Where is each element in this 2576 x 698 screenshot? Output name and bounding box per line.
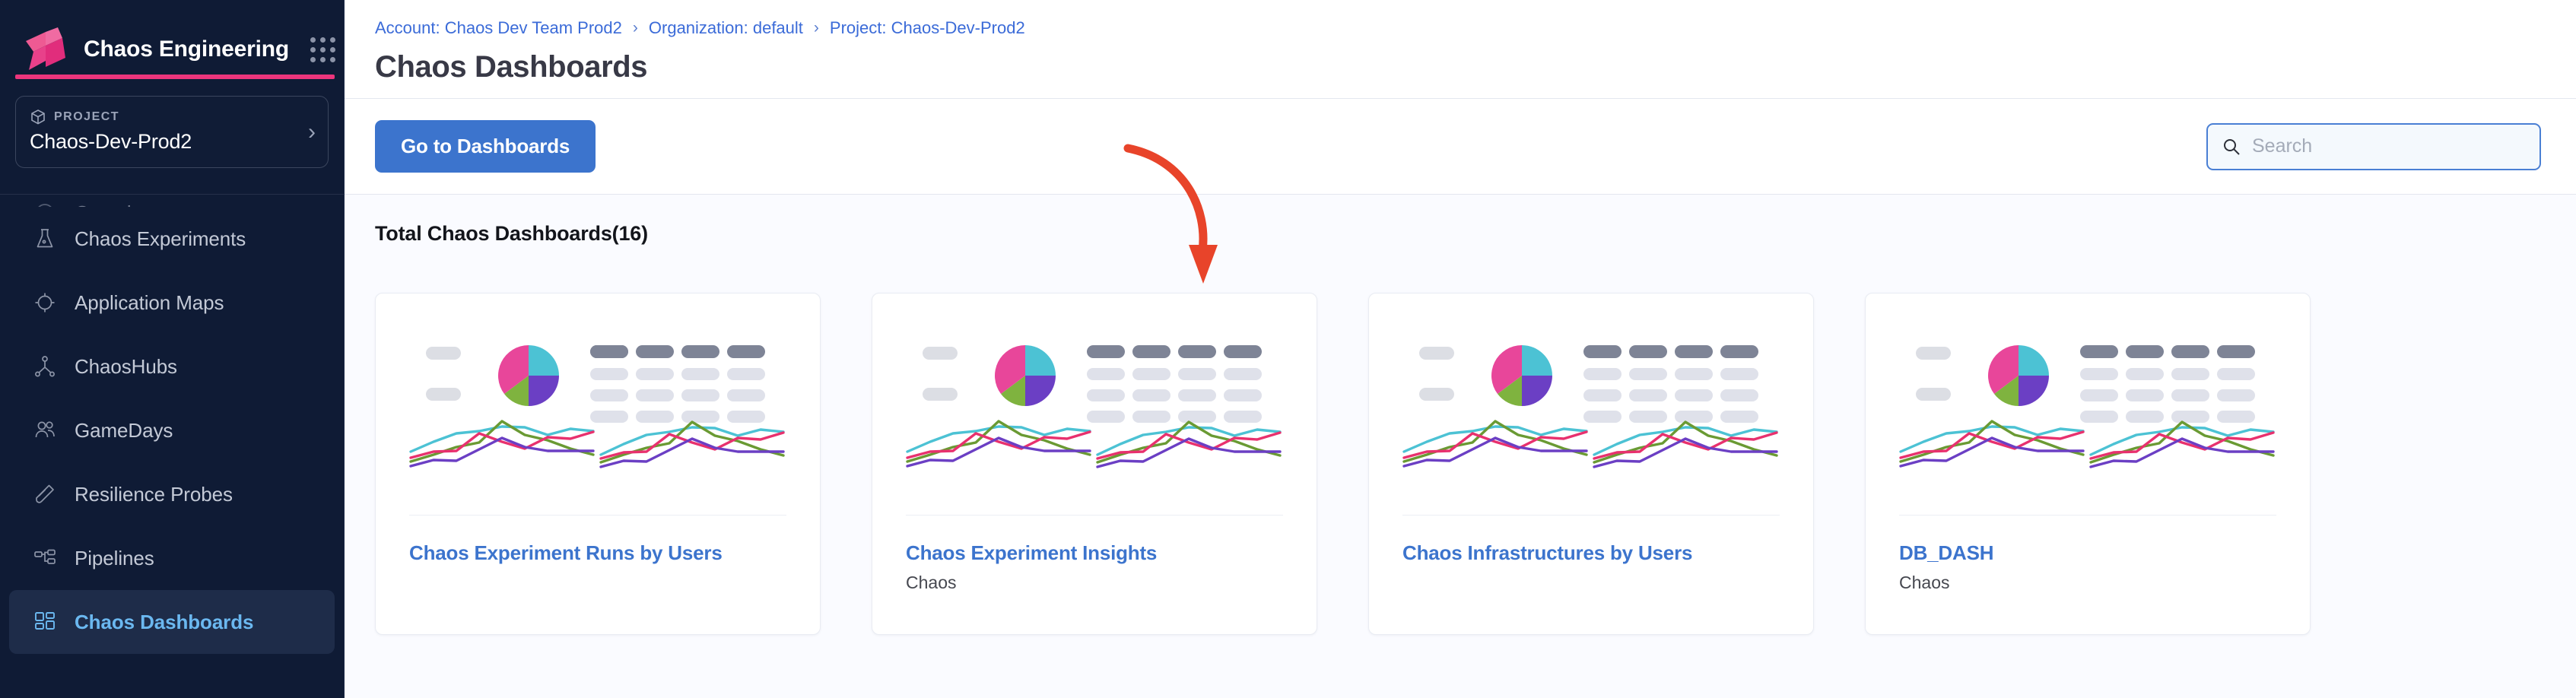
sidebar-item-label: Overview — [75, 201, 157, 208]
sidebar-item-label: Application Maps — [75, 291, 224, 315]
breadcrumb: Account: Chaos Dev Team Prod2 › Organiza… — [375, 17, 2576, 40]
card-title[interactable]: DB_DASH — [1899, 541, 2276, 565]
dashboard-thumbnail — [376, 293, 820, 487]
card-meta: Chaos Infrastructures by Users — [1369, 516, 1813, 573]
dashboard-thumbnail — [872, 293, 1317, 487]
main-panel: Account: Chaos Dev Team Prod2 › Organiza… — [345, 0, 2576, 698]
sidebar: Chaos Engineering PROJECT Chaos-Dev-Prod… — [0, 0, 345, 698]
dashboards-content: Total Chaos Dashboards(16) — [345, 195, 2576, 698]
brand-title: Chaos Engineering — [84, 36, 289, 62]
breadcrumb-project[interactable]: Project: Chaos-Dev-Prod2 — [830, 18, 1025, 38]
card-title[interactable]: Chaos Experiment Insights — [906, 541, 1283, 565]
card-title[interactable]: Chaos Infrastructures by Users — [1402, 541, 1780, 565]
brand-accent-underline — [15, 75, 335, 79]
sidebar-item-overview-clipped[interactable]: Overview — [0, 195, 344, 207]
users-icon — [32, 417, 58, 443]
overview-icon — [32, 200, 58, 207]
topbar: Account: Chaos Dev Team Prod2 › Organiza… — [345, 0, 2576, 99]
chevron-right-icon[interactable]: › — [308, 121, 316, 144]
test-tube-icon — [32, 481, 58, 507]
sidebar-item-pipelines[interactable]: Pipelines — [9, 526, 335, 590]
total-dashboards-label: Total Chaos Dashboards(16) — [375, 222, 2546, 246]
project-label: PROJECT — [54, 110, 119, 124]
sidebar-item-label: Resilience Probes — [75, 483, 233, 506]
card-meta: DB_DASH Chaos — [1866, 516, 2310, 593]
breadcrumb-separator-icon: › — [814, 19, 819, 37]
dashboard-card[interactable]: Chaos Experiment Runs by Users — [375, 293, 821, 635]
app-root: Chaos Engineering PROJECT Chaos-Dev-Prod… — [0, 0, 2576, 698]
target-icon — [32, 290, 58, 316]
sidebar-item-label: Chaos Experiments — [75, 227, 246, 251]
pipeline-icon — [32, 545, 58, 571]
dashboard-card-grid: Chaos Experiment Runs by Users — [375, 293, 2546, 635]
sidebar-item-resilience-probes[interactable]: Resilience Probes — [9, 462, 335, 526]
breadcrumb-separator-icon: › — [633, 19, 638, 37]
card-title[interactable]: Chaos Experiment Runs by Users — [409, 541, 786, 565]
sidebar-item-application-maps[interactable]: Application Maps — [9, 271, 335, 335]
project-name: Chaos-Dev-Prod2 — [30, 130, 314, 154]
card-meta: Chaos Experiment Runs by Users — [376, 516, 820, 573]
sidebar-item-label: ChaosHubs — [75, 355, 177, 379]
breadcrumb-account[interactable]: Account: Chaos Dev Team Prod2 — [375, 18, 622, 38]
card-subtitle: Chaos — [1899, 573, 2276, 593]
app-grid-icon[interactable] — [310, 37, 335, 62]
card-meta: Chaos Experiment Insights Chaos — [872, 516, 1317, 593]
sidebar-nav: Overview Chaos Experiments — [0, 195, 344, 698]
search-box[interactable] — [2206, 123, 2541, 170]
flask-icon — [32, 226, 58, 252]
page-title: Chaos Dashboards — [375, 50, 2576, 84]
cube-icon — [30, 109, 46, 125]
sidebar-item-chaos-dashboards[interactable]: Chaos Dashboards — [9, 590, 335, 654]
sidebar-item-gamedays[interactable]: GameDays — [9, 398, 335, 462]
search-icon — [2222, 137, 2241, 157]
search-input[interactable] — [2252, 135, 2526, 157]
sidebar-brand: Chaos Engineering — [0, 0, 344, 79]
dashboard-thumbnail — [1369, 293, 1813, 487]
sidebar-item-label: Chaos Dashboards — [75, 611, 253, 634]
dashboard-card[interactable]: DB_DASH Chaos — [1865, 293, 2311, 635]
breadcrumb-organization[interactable]: Organization: default — [649, 18, 803, 38]
sidebar-item-label: GameDays — [75, 419, 173, 443]
sidebar-item-label: Pipelines — [75, 547, 154, 570]
sidebar-item-chaos-experiments[interactable]: Chaos Experiments — [9, 207, 335, 271]
dashboard-card[interactable]: Chaos Infrastructures by Users — [1368, 293, 1814, 635]
hub-nodes-icon — [32, 354, 58, 379]
card-subtitle: Chaos — [906, 573, 1283, 593]
project-selector[interactable]: PROJECT Chaos-Dev-Prod2 › — [15, 96, 329, 168]
go-to-dashboards-button[interactable]: Go to Dashboards — [375, 120, 596, 173]
dashboard-card[interactable]: Chaos Experiment Insights Chaos — [872, 293, 1317, 635]
dashboard-grid-icon — [32, 609, 58, 635]
dashboard-thumbnail — [1866, 293, 2310, 487]
project-selector-header: PROJECT — [30, 109, 314, 125]
action-bar: Go to Dashboards — [345, 99, 2576, 195]
harness-logo-icon — [23, 27, 70, 71]
sidebar-item-chaoshubs[interactable]: ChaosHubs — [9, 335, 335, 398]
